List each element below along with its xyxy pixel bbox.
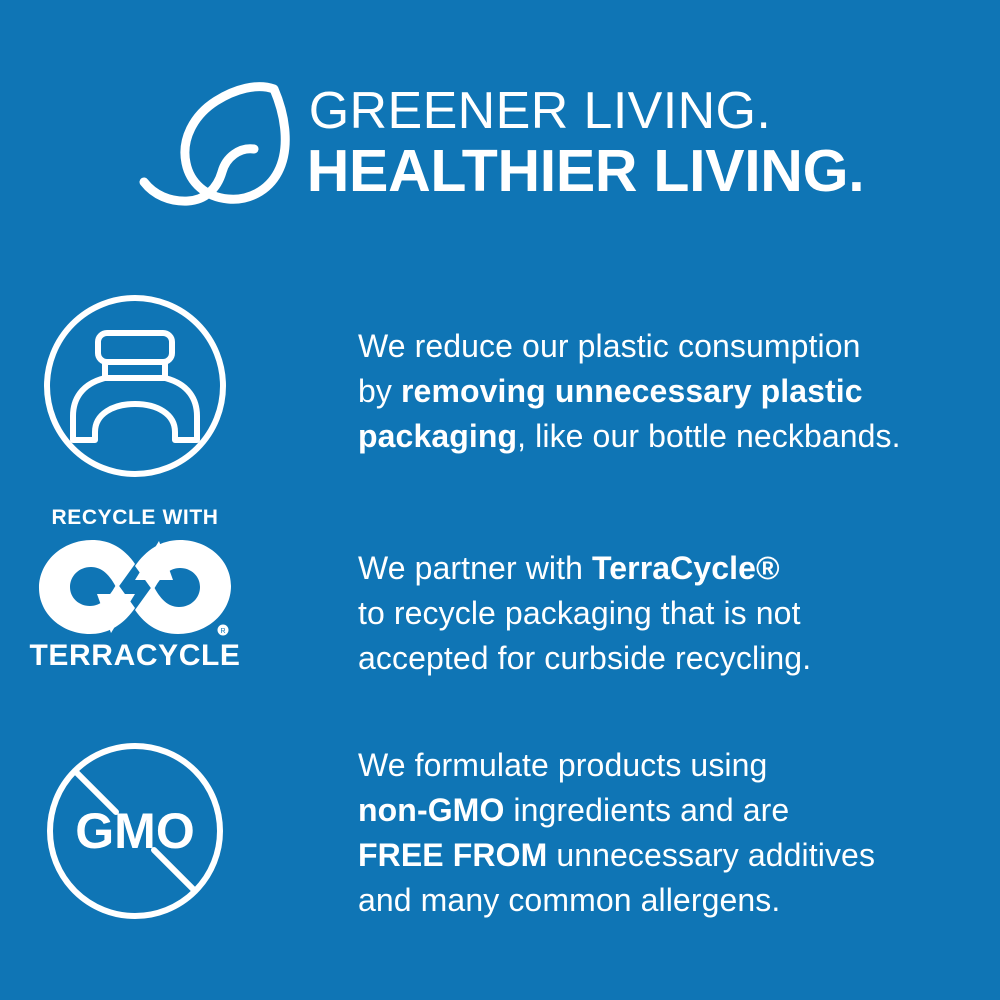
- text-line-3-normal: unnecessary additives: [547, 837, 875, 873]
- promo-graphic: GREENER LIVING. HEALTHIER LIVING.: [0, 0, 1000, 1000]
- bottle-in-circle-icon: [0, 278, 270, 493]
- no-gmo-icon: GMO: [0, 723, 270, 938]
- text-line-3-normal: , like our bottle neckbands.: [517, 418, 900, 454]
- recycle-infinity-icon: R: [37, 534, 233, 638]
- leaf-icon: [136, 73, 301, 218]
- benefit-paragraph: We reduce our plastic consumption by rem…: [358, 324, 980, 459]
- text-line-1-bold: TerraCycle®: [592, 550, 780, 586]
- benefit-text-plastic: We reduce our plastic consumption by rem…: [270, 278, 1000, 493]
- text-line-1: We reduce our plastic consumption: [358, 328, 861, 364]
- text-line-1: We formulate products using: [358, 747, 767, 783]
- headline: GREENER LIVING. HEALTHIER LIVING.: [307, 82, 865, 203]
- benefit-row-plastic: We reduce our plastic consumption by rem…: [0, 278, 1000, 493]
- terracycle-logo: RECYCLE WITH: [0, 506, 270, 711]
- text-line-3: accepted for curbside recycling.: [358, 640, 811, 676]
- text-line-1-normal: We partner with: [358, 550, 592, 586]
- benefit-row-gmo: GMO We formulate products using non-GMO …: [0, 723, 1000, 938]
- svg-text:GMO: GMO: [75, 803, 194, 859]
- text-line-2: to recycle packaging that is not: [358, 595, 801, 631]
- benefit-row-terracycle: RECYCLE WITH: [0, 506, 1000, 711]
- headline-line-1: GREENER LIVING.: [307, 82, 865, 140]
- text-line-2-bold: non-GMO: [358, 792, 504, 828]
- text-line-3-bold: packaging: [358, 418, 517, 454]
- benefit-paragraph: We partner with TerraCycle® to recycle p…: [358, 546, 980, 681]
- svg-text:R: R: [220, 628, 225, 635]
- text-line-4: and many common allergens.: [358, 882, 780, 918]
- benefit-text-gmo: We formulate products using non-GMO ingr…: [270, 723, 1000, 938]
- text-line-2-normal: ingredients and are: [504, 792, 789, 828]
- benefit-text-terracycle: We partner with TerraCycle® to recycle p…: [270, 506, 1000, 711]
- headline-line-2: HEALTHIER LIVING.: [307, 140, 865, 203]
- text-line-2-bold: removing unnecessary plastic: [401, 373, 863, 409]
- terracycle-top-text: RECYCLE WITH: [51, 506, 218, 530]
- header: GREENER LIVING. HEALTHIER LIVING.: [0, 62, 1000, 222]
- text-line-3-bold: FREE FROM: [358, 837, 547, 873]
- benefit-paragraph: We formulate products using non-GMO ingr…: [358, 743, 980, 923]
- terracycle-bottom-text: TERRACYCLE: [30, 640, 241, 672]
- text-line-2-normal: by: [358, 373, 401, 409]
